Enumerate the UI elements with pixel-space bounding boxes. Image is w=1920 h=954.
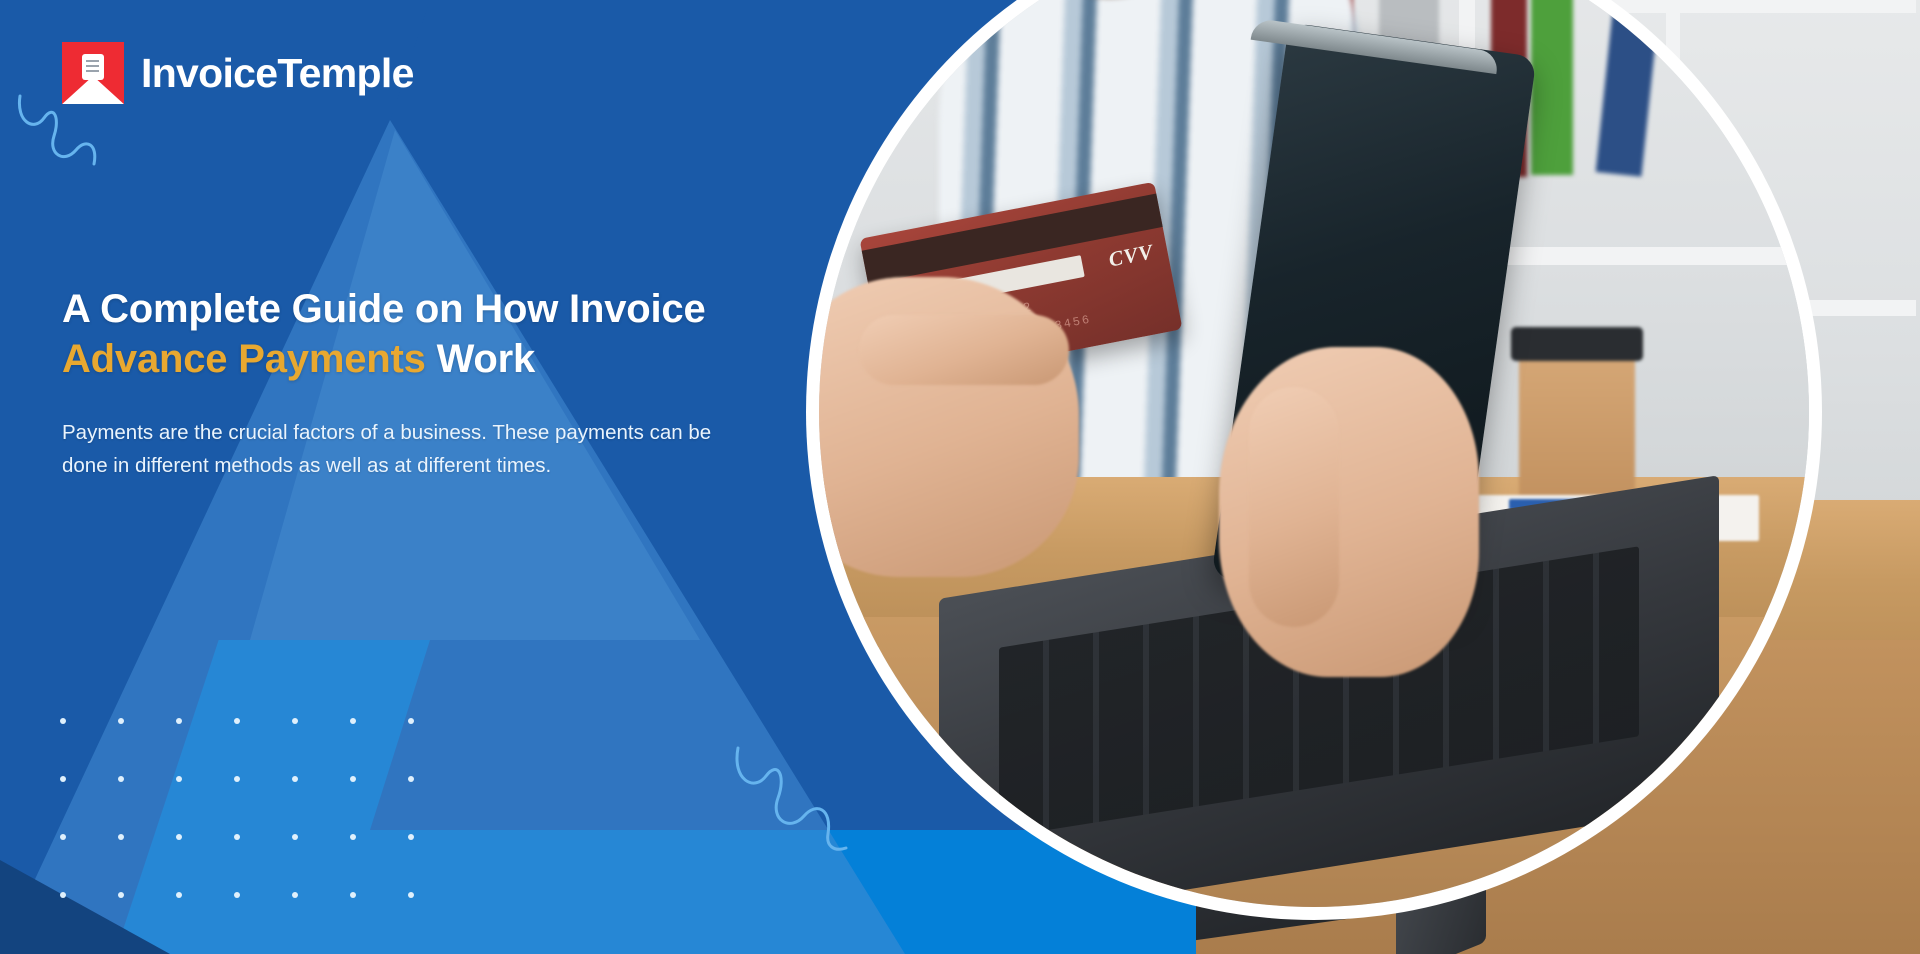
decorative-dot — [292, 834, 298, 840]
hero-copy-block: A Complete Guide on How Invoice Advance … — [62, 285, 782, 483]
coffee-cup-lid — [1511, 327, 1643, 361]
brand-wordmark: InvoiceTemple — [141, 53, 414, 94]
decorative-dot — [350, 718, 356, 724]
photo-scene: CVV 1234 5678 9012 11/26 3456 — [819, 0, 1809, 907]
decorative-dot — [350, 834, 356, 840]
decorative-dot — [60, 834, 66, 840]
decorative-dot — [176, 892, 182, 898]
thumb — [859, 315, 1069, 385]
headline-line-1: A Complete Guide on How Invoice — [62, 287, 706, 331]
book-spine — [1531, 0, 1573, 175]
decorative-dot — [60, 776, 66, 782]
decorative-dot — [292, 776, 298, 782]
decorative-dot — [234, 776, 240, 782]
decorative-dot — [60, 718, 66, 724]
headline-tail: Work — [437, 337, 535, 381]
hero-photo-circle: CVV 1234 5678 9012 11/26 3456 — [806, 0, 1822, 920]
decorative-dot — [176, 776, 182, 782]
decorative-dot — [234, 718, 240, 724]
decorative-dot — [118, 718, 124, 724]
page-title: A Complete Guide on How Invoice Advance … — [62, 285, 782, 384]
hero-photo: CVV 1234 5678 9012 11/26 3456 — [819, 0, 1809, 907]
decorative-dot — [118, 834, 124, 840]
hero-banner: CVV 1234 5678 9012 11/26 3456 InvoiceTem… — [0, 0, 1920, 954]
decorative-dot — [408, 834, 414, 840]
decorative-dot — [350, 892, 356, 898]
decorative-dot — [60, 892, 66, 898]
decorative-dot — [408, 892, 414, 898]
temple-roof-icon — [62, 76, 124, 104]
decorative-dot — [176, 834, 182, 840]
decorative-dot — [350, 776, 356, 782]
headline-accent: Advance Payments — [62, 337, 426, 381]
decorative-dot — [234, 834, 240, 840]
decorative-dot — [292, 892, 298, 898]
decorative-dot — [408, 776, 414, 782]
decorative-dot — [176, 718, 182, 724]
finger — [1249, 387, 1339, 627]
brand-logo[interactable]: InvoiceTemple — [62, 42, 414, 104]
hero-subcopy: Payments are the crucial factors of a bu… — [62, 416, 762, 482]
decorative-dot — [292, 718, 298, 724]
decorative-dot — [118, 892, 124, 898]
decorative-dot — [408, 718, 414, 724]
invoice-document-temple-icon — [62, 42, 124, 104]
decorative-dot — [234, 892, 240, 898]
coffee-cup — [1519, 347, 1635, 505]
card-cvv-label: CVV — [1107, 239, 1156, 272]
decorative-dot — [118, 776, 124, 782]
